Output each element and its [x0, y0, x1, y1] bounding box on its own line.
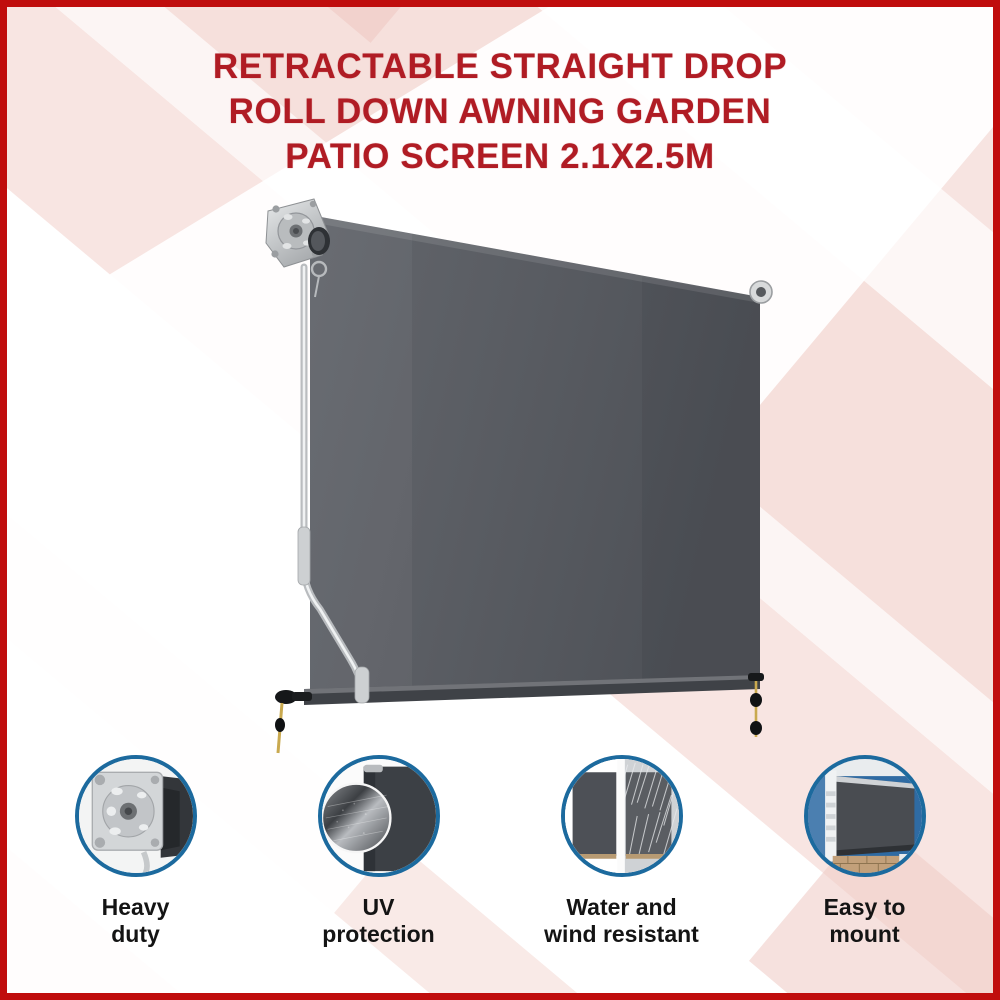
roller-end-cap [750, 281, 772, 303]
wall-install-icon [804, 755, 926, 877]
product-hero-image [262, 197, 782, 742]
feature-water-wind-resistant: Water and wind resistant [517, 755, 727, 948]
title-line-3: PATIO SCREEN 2.1X2.5M [7, 135, 993, 180]
title-line-2: ROLL DOWN AWNING GARDEN [7, 90, 993, 135]
title-line-1: RETRACTABLE STRAIGHT DROP [7, 45, 993, 90]
feature-badges: Heavy duty [14, 755, 986, 975]
feature-label: Water and wind resistant [544, 894, 699, 948]
feature-easy-to-mount: Easy to mount [760, 755, 970, 948]
feature-label: Easy to mount [824, 894, 906, 948]
left-pull-cord [275, 690, 312, 753]
feature-heavy-duty: Heavy duty [31, 755, 241, 948]
fabric-weave-icon [318, 755, 440, 877]
feature-label: UV protection [322, 894, 434, 948]
feature-label: Heavy duty [102, 894, 170, 948]
image-inner-area: RETRACTABLE STRAIGHT DROP ROLL DOWN AWNI… [7, 7, 993, 993]
product-title: RETRACTABLE STRAIGHT DROP ROLL DOWN AWNI… [7, 45, 993, 179]
rain-split-icon [561, 755, 683, 877]
mounting-bracket-icon [75, 755, 197, 877]
feature-uv-protection: UV protection [274, 755, 484, 948]
product-image-frame: RETRACTABLE STRAIGHT DROP ROLL DOWN AWNI… [0, 0, 1000, 1000]
fabric-screen [310, 215, 760, 697]
